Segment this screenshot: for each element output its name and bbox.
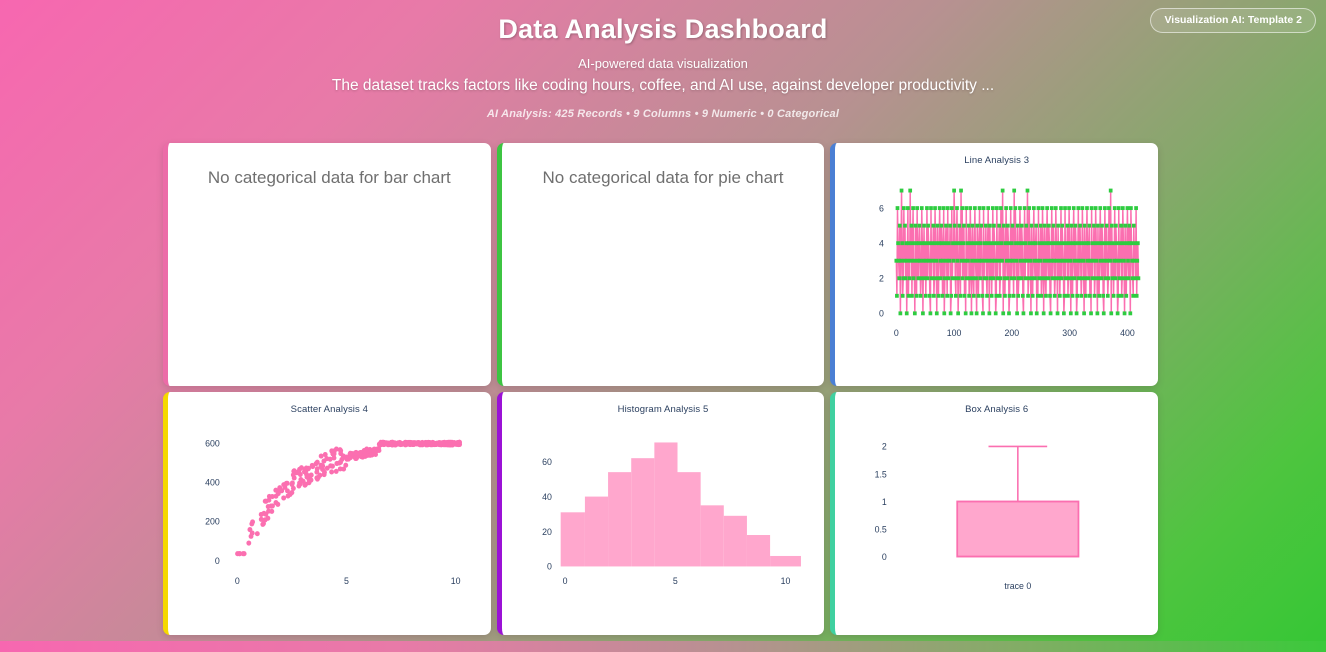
line-marker [1024, 276, 1028, 280]
scatter-point [266, 504, 271, 509]
card-pie-chart[interactable]: No categorical data for pie chart [497, 143, 825, 386]
line-marker [966, 259, 970, 263]
scatter-point [247, 527, 252, 532]
line-marker [941, 294, 945, 298]
line-marker [1077, 206, 1081, 210]
line-marker [1129, 311, 1133, 315]
line-marker [937, 294, 941, 298]
line-marker [1100, 276, 1104, 280]
line-marker [939, 276, 943, 280]
line-marker [961, 206, 965, 210]
scatter-point [296, 483, 301, 488]
line-marker [1056, 311, 1060, 315]
line-marker [1096, 224, 1100, 228]
scatter-point [277, 487, 282, 492]
scatter-point [250, 519, 255, 524]
line-marker [899, 311, 903, 315]
line-marker [961, 276, 965, 280]
scatter-point [341, 466, 346, 471]
scatter-point [455, 440, 460, 445]
line-marker [932, 224, 936, 228]
line-marker [958, 241, 962, 245]
line-marker [1047, 276, 1051, 280]
line-marker [911, 241, 915, 245]
line-marker [1127, 276, 1131, 280]
line-marker [1048, 294, 1052, 298]
line-marker [957, 276, 961, 280]
line-marker [1115, 241, 1119, 245]
line-marker [979, 241, 983, 245]
line-marker [1120, 294, 1124, 298]
line-marker [1029, 311, 1033, 315]
line-marker [970, 311, 974, 315]
line-marker [1030, 224, 1034, 228]
line-marker [949, 311, 953, 315]
line-marker [899, 259, 903, 263]
histogram-bar [560, 512, 584, 566]
scatter-point [415, 440, 420, 445]
scatter-point [255, 531, 260, 536]
line-marker [977, 294, 981, 298]
line-marker [931, 241, 935, 245]
line-marker [1065, 259, 1069, 263]
line-marker [952, 259, 956, 263]
line-marker [1055, 259, 1059, 263]
line-marker [1081, 206, 1085, 210]
line-marker [1132, 294, 1136, 298]
line-marker [903, 224, 907, 228]
line-marker [1088, 224, 1092, 228]
line-marker [1039, 224, 1043, 228]
line-marker [1017, 294, 1021, 298]
line-marker [1132, 224, 1136, 228]
line-marker [1044, 294, 1048, 298]
scatter-point [314, 461, 319, 466]
line-marker [908, 241, 912, 245]
line-marker [1094, 206, 1098, 210]
line-marker [993, 241, 997, 245]
line-marker [970, 259, 974, 263]
scatter-point [281, 495, 286, 500]
line-marker [924, 241, 928, 245]
line-marker [1058, 294, 1062, 298]
line-marker [1031, 294, 1035, 298]
line-marker [1135, 294, 1139, 298]
line-marker [990, 294, 994, 298]
line-marker [1027, 294, 1031, 298]
scatter-point [377, 448, 382, 453]
page-title: Data Analysis Dashboard [0, 12, 1326, 46]
line-marker [913, 311, 917, 315]
chart-title: Box Analysis 6 [965, 404, 1028, 415]
line-marker [1060, 276, 1064, 280]
line-marker [992, 276, 996, 280]
line-marker [962, 224, 966, 228]
line-marker [960, 259, 964, 263]
line-marker [901, 294, 905, 298]
line-marker [1054, 206, 1058, 210]
line-marker [971, 224, 975, 228]
svg-text:1: 1 [882, 497, 887, 507]
line-marker [1002, 311, 1006, 315]
line-marker [990, 241, 994, 245]
line-marker [973, 241, 977, 245]
line-marker [1037, 206, 1041, 210]
line-marker [929, 206, 933, 210]
line-marker [1122, 241, 1126, 245]
line-marker [975, 276, 979, 280]
chart-title: Histogram Analysis 5 [618, 404, 709, 415]
line-marker [1067, 276, 1071, 280]
dataset-meta: AI Analysis: 425 Records • 9 Columns • 9… [0, 108, 1326, 120]
line-marker [909, 189, 913, 193]
line-marker [920, 276, 924, 280]
line-marker [1058, 241, 1062, 245]
box-plot-area[interactable]: 00.511.52trace 0 [835, 415, 1158, 635]
histogram-bar [723, 516, 746, 567]
line-marker [901, 241, 905, 245]
line-marker [959, 294, 963, 298]
line-marker [1000, 241, 1004, 245]
scatter-point [266, 498, 271, 503]
scatter-point [275, 502, 280, 507]
line-marker [919, 294, 923, 298]
histogram-bar [747, 535, 770, 566]
line-marker [987, 259, 991, 263]
line-marker [1022, 311, 1026, 315]
scatter-point [381, 440, 386, 445]
line-marker [1128, 224, 1132, 228]
line-marker [933, 276, 937, 280]
scatter-point [241, 551, 246, 556]
scatter-point [353, 450, 358, 455]
line-marker [1046, 206, 1050, 210]
scatter-point [426, 440, 431, 445]
line-marker [1041, 206, 1045, 210]
line-marker [995, 294, 999, 298]
card-bar-chart[interactable]: No categorical data for bar chart [163, 143, 491, 386]
line-marker [973, 206, 977, 210]
scatter-point [297, 467, 302, 472]
line-marker [988, 224, 992, 228]
line-marker [1009, 206, 1013, 210]
line-marker [1043, 224, 1047, 228]
line-marker [925, 206, 929, 210]
line-marker [1109, 189, 1113, 193]
template-badge[interactable]: Visualization AI: Template 2 [1150, 8, 1316, 33]
scatter-plot-area[interactable]: 02004006000510 [168, 415, 491, 635]
card-box-chart[interactable]: Box Analysis 6 00.511.52trace 0 [830, 392, 1158, 635]
line-marker [1093, 294, 1097, 298]
page-subtitle: AI-powered data visualization [0, 55, 1326, 72]
svg-text:400: 400 [1120, 328, 1135, 338]
svg-text:2: 2 [882, 442, 887, 452]
line-marker [917, 241, 921, 245]
svg-text:10: 10 [451, 576, 461, 586]
svg-text:600: 600 [205, 438, 220, 448]
line-marker [1062, 259, 1066, 263]
line-marker [1099, 206, 1103, 210]
line-marker [953, 224, 957, 228]
line-marker [1012, 259, 1016, 263]
svg-text:10: 10 [780, 576, 790, 586]
histogram-plot-svg[interactable]: 02040600510 [502, 415, 825, 635]
line-marker [1016, 311, 1020, 315]
line-marker [916, 206, 920, 210]
line-marker [1039, 259, 1043, 263]
chart-title: Line Analysis 3 [964, 155, 1029, 166]
line-marker [1010, 276, 1014, 280]
line-marker [1061, 224, 1065, 228]
line-marker [969, 206, 973, 210]
line-marker [991, 206, 995, 210]
line-marker [906, 259, 910, 263]
histogram-bar [677, 472, 700, 566]
line-marker [1117, 294, 1121, 298]
line-marker [1082, 259, 1086, 263]
line-marker [1102, 294, 1106, 298]
line-marker [1130, 241, 1134, 245]
line-marker [944, 241, 948, 245]
scatter-point [266, 509, 271, 514]
line-marker [895, 294, 899, 298]
line-marker [926, 276, 930, 280]
scatter-point [421, 441, 426, 446]
svg-text:60: 60 [542, 457, 552, 467]
line-marker [932, 294, 936, 298]
line-marker [907, 294, 911, 298]
scatter-point [298, 477, 303, 482]
line-marker [1014, 241, 1018, 245]
line-marker [1025, 224, 1029, 228]
histogram-bar [631, 458, 654, 566]
line-marker [918, 224, 922, 228]
line-marker [927, 224, 931, 228]
chart-grid: No categorical data for bar chart No cat… [163, 143, 1158, 635]
line-marker [897, 241, 901, 245]
line-marker [1071, 294, 1075, 298]
line-marker [942, 206, 946, 210]
line-marker [1072, 206, 1076, 210]
line-marker [1118, 241, 1122, 245]
line-marker [1062, 311, 1066, 315]
scatter-point [291, 486, 296, 491]
line-marker [1074, 241, 1078, 245]
line-marker [984, 259, 988, 263]
svg-text:5: 5 [344, 576, 349, 586]
line-marker [1084, 294, 1088, 298]
line-marker [1065, 241, 1069, 245]
line-marker [934, 206, 938, 210]
line-marker [1003, 294, 1007, 298]
line-marker [913, 259, 917, 263]
line-marker [1100, 224, 1104, 228]
line-marker [1036, 294, 1040, 298]
line-marker [998, 224, 1002, 228]
line-marker [935, 259, 939, 263]
line-marker [981, 294, 985, 298]
line-marker [1047, 224, 1051, 228]
line-marker [1032, 206, 1036, 210]
line-marker [1073, 276, 1077, 280]
line-marker [912, 276, 916, 280]
line-marker [1020, 276, 1024, 280]
line-marker [915, 294, 919, 298]
line-marker [898, 276, 902, 280]
svg-text:400: 400 [205, 477, 220, 487]
line-marker [1042, 241, 1046, 245]
line-marker [1113, 206, 1117, 210]
line-marker [1023, 206, 1027, 210]
svg-text:2: 2 [879, 273, 884, 283]
line-marker [1080, 276, 1084, 280]
chart-title: Scatter Analysis 4 [291, 404, 368, 415]
line-marker [1028, 241, 1032, 245]
line-marker [1064, 206, 1068, 210]
svg-text:200: 200 [1005, 328, 1020, 338]
line-marker [1006, 224, 1010, 228]
line-marker [943, 311, 947, 315]
line-marker [1098, 294, 1102, 298]
scatter-point [324, 456, 329, 461]
line-marker [969, 241, 973, 245]
line-plot-svg[interactable]: 02460100200300400 [835, 166, 1158, 386]
line-marker [1005, 259, 1009, 263]
line-marker [896, 206, 900, 210]
scatter-point [314, 470, 319, 475]
svg-text:0: 0 [562, 576, 567, 586]
scatter-point [303, 482, 308, 487]
svg-text:200: 200 [205, 517, 220, 527]
line-marker [1053, 294, 1057, 298]
histogram-bar [585, 497, 608, 567]
dataset-description: The dataset tracks factors like coding h… [0, 76, 1326, 96]
line-marker [986, 294, 990, 298]
line-marker [960, 189, 964, 193]
line-marker [1078, 241, 1082, 245]
line-marker [920, 206, 924, 210]
line-marker [914, 224, 918, 228]
line-marker [938, 206, 942, 210]
line-plot-area[interactable]: 02460100200300400 [835, 166, 1158, 386]
line-marker [982, 206, 986, 210]
line-marker [924, 294, 928, 298]
scatter-point [325, 466, 330, 471]
line-marker [1116, 259, 1120, 263]
line-marker [1124, 224, 1128, 228]
histogram-bar [770, 556, 801, 566]
line-marker [1136, 259, 1140, 263]
card-line-chart[interactable]: Line Analysis 3 02460100200300400 [830, 143, 1158, 386]
line-marker [953, 189, 957, 193]
line-marker [1125, 294, 1129, 298]
line-marker [928, 294, 932, 298]
scatter-point [309, 477, 314, 482]
scatter-point [348, 451, 353, 456]
line-marker [904, 276, 908, 280]
line-marker [931, 259, 935, 263]
line-marker [1075, 311, 1079, 315]
line-marker [946, 294, 950, 298]
line-marker [900, 189, 904, 193]
line-marker [1061, 241, 1065, 245]
line-marker [1046, 259, 1050, 263]
line-marker [966, 241, 970, 245]
line-marker [1081, 241, 1085, 245]
line-marker [1090, 311, 1094, 315]
histogram-plot-area[interactable]: 02040600510 [502, 415, 825, 635]
line-marker [1091, 241, 1095, 245]
line-marker [996, 241, 1000, 245]
scatter-plot-svg[interactable]: 02004006000510 [168, 415, 491, 635]
card-histogram-chart[interactable]: Histogram Analysis 5 02040600510 [497, 392, 825, 635]
line-marker [1088, 294, 1092, 298]
line-marker [1105, 241, 1109, 245]
svg-text:5: 5 [673, 576, 678, 586]
scatter-point [338, 448, 343, 453]
dashboard-header: Data Analysis Dashboard AI-powered data … [0, 0, 1326, 132]
line-marker [992, 224, 996, 228]
line-marker [1018, 206, 1022, 210]
box-plot-svg[interactable]: 00.511.52trace 0 [835, 415, 1158, 635]
line-marker [908, 276, 912, 280]
line-marker [935, 311, 939, 315]
line-marker [1013, 189, 1017, 193]
line-marker [940, 241, 944, 245]
scatter-point [332, 450, 337, 455]
line-marker [942, 259, 946, 263]
line-marker [1069, 259, 1073, 263]
line-marker [1121, 276, 1125, 280]
card-scatter-chart[interactable]: Scatter Analysis 4 02004006000510 [163, 392, 491, 635]
line-marker [902, 206, 906, 210]
line-marker [999, 206, 1003, 210]
line-marker [1107, 276, 1111, 280]
line-marker [1090, 206, 1094, 210]
line-marker [1024, 241, 1028, 245]
line-marker [1005, 206, 1009, 210]
scatter-point [286, 493, 291, 498]
scatter-point [447, 442, 452, 447]
line-marker [905, 311, 909, 315]
line-marker [1122, 259, 1126, 263]
line-marker [981, 311, 985, 315]
line-marker [980, 259, 984, 263]
line-marker [954, 294, 958, 298]
line-marker [928, 259, 932, 263]
line-marker [997, 259, 1001, 263]
line-marker [1123, 311, 1127, 315]
bottom-gradient-strip [0, 641, 1326, 652]
scatter-point [329, 469, 334, 474]
line-marker [999, 276, 1003, 280]
line-marker [912, 206, 916, 210]
scatter-point [249, 534, 254, 539]
line-marker [1092, 224, 1096, 228]
svg-text:0: 0 [882, 552, 887, 562]
line-marker [980, 224, 984, 228]
line-marker [1126, 259, 1130, 263]
line-marker [1015, 259, 1019, 263]
line-marker [918, 259, 922, 263]
line-marker [947, 241, 951, 245]
line-marker [1080, 294, 1084, 298]
line-marker [1051, 241, 1055, 245]
svg-text:0.5: 0.5 [875, 524, 887, 534]
line-marker [956, 259, 960, 263]
line-marker [979, 276, 983, 280]
line-marker [1028, 206, 1032, 210]
